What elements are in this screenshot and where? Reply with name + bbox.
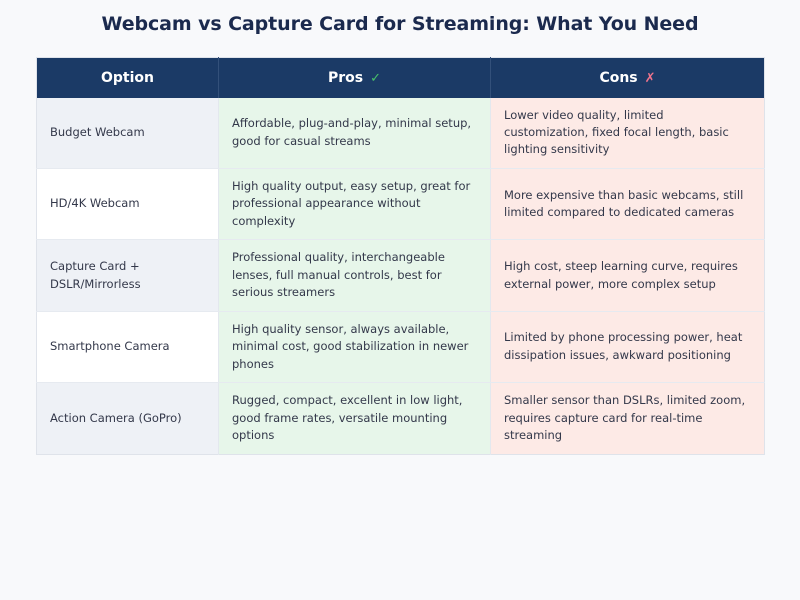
column-header-option-label: Option bbox=[101, 70, 154, 86]
column-header-cons[interactable]: Cons✗ bbox=[491, 58, 765, 98]
cell-pros: High quality output, easy setup, great f… bbox=[219, 168, 491, 239]
cell-option: Budget Webcam bbox=[37, 98, 219, 169]
cell-cons: Limited by phone processing power, heat … bbox=[491, 311, 765, 382]
cell-option: Action Camera (GoPro) bbox=[37, 383, 219, 454]
table-body: Budget Webcam Affordable, plug-and-play,… bbox=[37, 98, 765, 455]
table-row: Capture Card + DSLR/Mirrorless Professio… bbox=[37, 240, 765, 311]
cell-pros: Rugged, compact, excellent in low light,… bbox=[219, 383, 491, 454]
column-header-cons-label: Cons bbox=[599, 70, 637, 86]
check-icon: ✓ bbox=[370, 71, 381, 86]
cell-option: Smartphone Camera bbox=[37, 311, 219, 382]
cell-cons: High cost, steep learning curve, require… bbox=[491, 240, 765, 311]
table-row: HD/4K Webcam High quality output, easy s… bbox=[37, 168, 765, 239]
cell-cons: Lower video quality, limited customizati… bbox=[491, 98, 765, 169]
table-header-row: Option Pros✓ Cons✗ bbox=[37, 58, 765, 98]
cell-option: HD/4K Webcam bbox=[37, 168, 219, 239]
table-header: Option Pros✓ Cons✗ bbox=[37, 58, 765, 98]
column-header-pros-label: Pros bbox=[328, 70, 363, 86]
table-row: Smartphone Camera High quality sensor, a… bbox=[37, 311, 765, 382]
comparison-table-container: Option Pros✓ Cons✗ Budget Webcam Afforda… bbox=[36, 57, 764, 455]
column-header-option[interactable]: Option bbox=[37, 58, 219, 98]
cell-cons: Smaller sensor than DSLRs, limited zoom,… bbox=[491, 383, 765, 454]
page-root: Webcam vs Capture Card for Streaming: Wh… bbox=[0, 0, 800, 600]
cell-pros: Affordable, plug-and-play, minimal setup… bbox=[219, 98, 491, 169]
column-header-pros[interactable]: Pros✓ bbox=[219, 58, 491, 98]
cell-cons: More expensive than basic webcams, still… bbox=[491, 168, 765, 239]
page-title: Webcam vs Capture Card for Streaming: Wh… bbox=[0, 0, 800, 35]
cell-pros: High quality sensor, always available, m… bbox=[219, 311, 491, 382]
table-row: Budget Webcam Affordable, plug-and-play,… bbox=[37, 98, 765, 169]
cell-pros: Professional quality, interchangeable le… bbox=[219, 240, 491, 311]
cell-option: Capture Card + DSLR/Mirrorless bbox=[37, 240, 219, 311]
cross-icon: ✗ bbox=[645, 71, 656, 86]
comparison-table: Option Pros✓ Cons✗ Budget Webcam Afforda… bbox=[36, 57, 765, 455]
table-row: Action Camera (GoPro) Rugged, compact, e… bbox=[37, 383, 765, 454]
